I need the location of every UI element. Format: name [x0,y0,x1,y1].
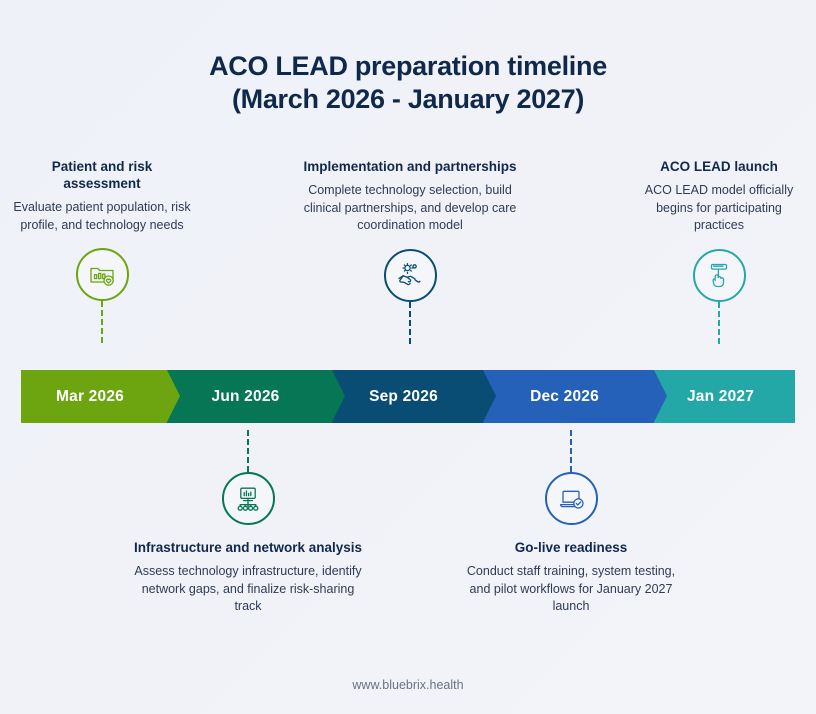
milestone-text: Patient and risk assessment Evaluate pat… [12,158,192,234]
laptop-check-icon [545,472,598,525]
handshake-gear-icon [384,249,437,302]
milestone-implementation-and-partnerships: Implementation and partnerships Complete… [300,158,520,344]
milestone-go-live-readiness: Go-live readiness Conduct staff training… [460,430,682,616]
timeline-segment-label: Jan 2027 [687,388,754,406]
milestone-connector [247,430,249,472]
patient-records-icon [76,248,129,301]
title-line-1: ACO LEAD preparation timeline [0,50,816,83]
timeline-segment-jun-2026[interactable]: Jun 2026 [167,370,332,423]
milestone-description: Complete technology selection, build cli… [300,182,520,235]
milestone-text: Implementation and partnerships Complete… [300,158,520,235]
milestone-connector [570,430,572,472]
timeline-segment-label: Dec 2026 [530,388,599,406]
milestone-title: Implementation and partnerships [300,158,520,175]
timeline-segment-label: Sep 2026 [369,388,438,406]
milestone-text: ACO LEAD launch ACO LEAD model officiall… [630,158,808,235]
milestone-patient-and-risk-assessment: Patient and risk assessment Evaluate pat… [12,158,192,343]
milestone-title: Go-live readiness [460,539,682,556]
milestone-description: Conduct staff training, system testing, … [460,563,682,616]
timeline-segment-label: Mar 2026 [56,388,124,406]
milestone-title: Infrastructure and network analysis [133,539,363,556]
milestone-description: ACO LEAD model officially begins for par… [630,182,808,235]
title-line-2: (March 2026 - January 2027) [0,83,816,116]
timeline-segment-mar-2026[interactable]: Mar 2026 [21,370,167,423]
milestone-aco-lead-launch: ACO LEAD launch ACO LEAD model officiall… [630,158,808,344]
milestone-connector [409,302,411,344]
milestone-text: Infrastructure and network analysis Asse… [133,539,363,616]
milestone-connector [101,301,103,343]
segment-arrow-icon [167,370,180,422]
milestone-title: Patient and risk assessment [12,158,192,192]
milestone-description: Assess technology infrastructure, identi… [133,563,363,616]
segment-arrow-icon [332,370,345,422]
timeline-segment-dec-2026[interactable]: Dec 2026 [483,370,654,423]
milestone-infrastructure-and-network-analysis: Infrastructure and network analysis Asse… [133,430,363,616]
segment-arrow-icon [654,370,667,422]
milestone-description: Evaluate patient population, risk profil… [12,199,192,234]
timeline-segment-sep-2026[interactable]: Sep 2026 [332,370,483,423]
timeline-bar: Mar 2026 Jun 2026 Sep 2026 Dec 2026 Jan … [21,370,795,423]
milestone-text: Go-live readiness Conduct staff training… [460,539,682,616]
milestone-connector [718,302,720,344]
hand-press-button-icon [693,249,746,302]
page-title: ACO LEAD preparation timeline (March 202… [0,50,816,116]
infographic-canvas: ACO LEAD preparation timeline (March 202… [0,0,816,714]
milestone-title: ACO LEAD launch [630,158,808,175]
footer-website[interactable]: www.bluebrix.health [0,678,816,692]
timeline-segment-label: Jun 2026 [212,388,280,406]
network-diagram-icon [222,472,275,525]
timeline-segment-jan-2027[interactable]: Jan 2027 [654,370,795,423]
segment-arrow-icon [483,370,496,422]
